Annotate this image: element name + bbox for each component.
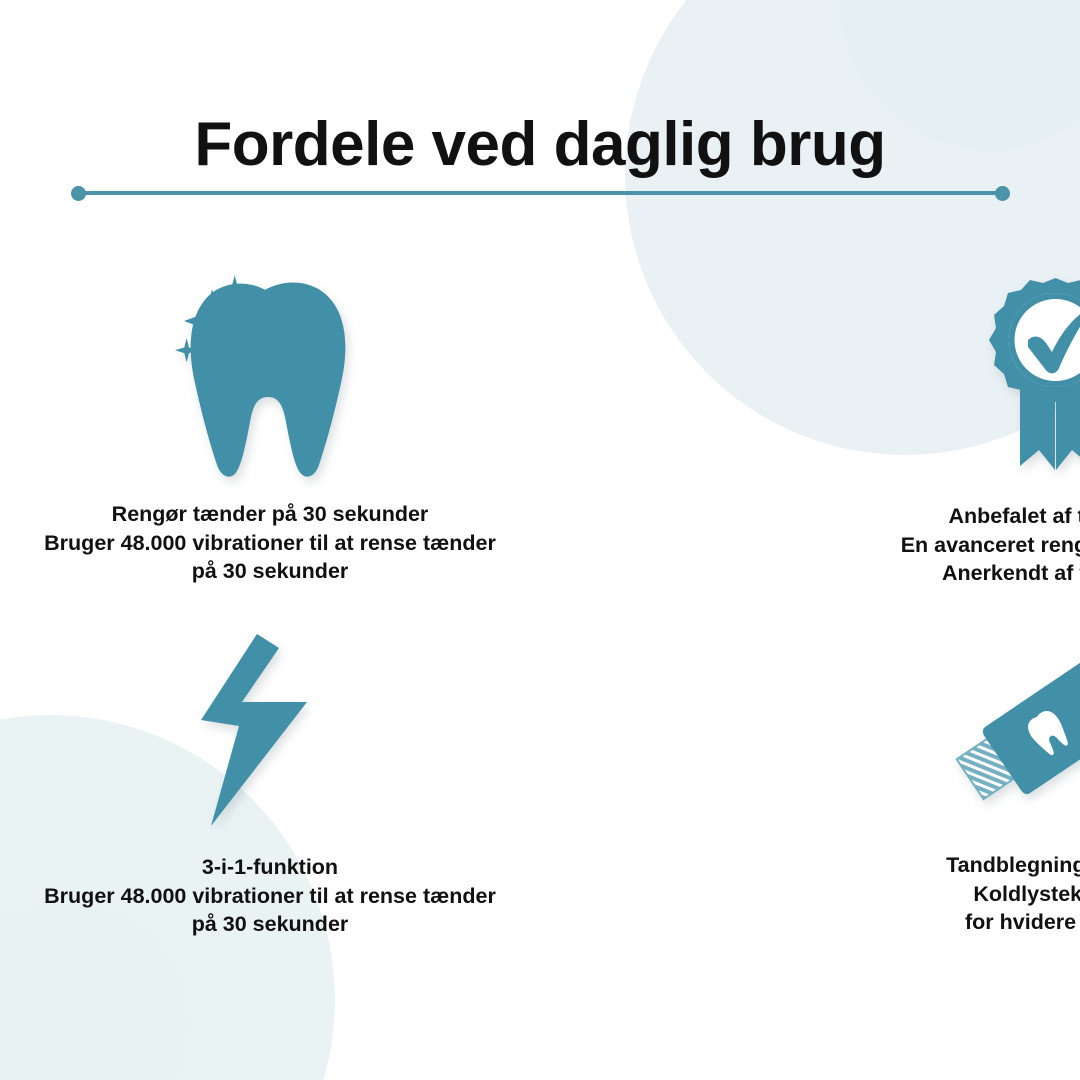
caption-line: for hvidere tænder	[946, 908, 1080, 937]
benefit-caption-bolt: 3-i-1-funktion Bruger 48.000 vibrationer…	[44, 853, 496, 939]
lightning-bolt-icon	[195, 615, 315, 845]
caption-line: Tandblegningstilstand	[946, 851, 1080, 880]
caption-line: Anerkendt af tandlæger.	[901, 559, 1080, 588]
caption-line: 3-i-1-funktion	[44, 853, 496, 882]
caption-line: Bruger 48.000 vibrationer til at rense t…	[44, 882, 496, 911]
benefit-caption-toothpaste: Tandblegningstilstand Koldlysteknologi f…	[946, 851, 1080, 937]
poster-header: Fordele ved daglig brug	[0, 112, 1080, 177]
page-title: Fordele ved daglig brug	[0, 112, 1080, 177]
caption-line: på 30 sekunder	[44, 557, 496, 586]
benefit-item-badge: Anbefalet af tandlæger En avanceret reng…	[540, 250, 1080, 595]
benefit-caption-tooth: Rengør tænder på 30 sekunder Bruger 48.0…	[44, 500, 496, 586]
toothpaste-tube-icon	[948, 613, 1080, 843]
caption-line: Rengør tænder på 30 sekunder	[44, 500, 496, 529]
infographic-poster: Fordele ved daglig brug Rengør tænder på…	[0, 0, 1080, 1080]
caption-line: Bruger 48.000 vibrationer til at rense t…	[44, 529, 496, 558]
caption-line: på 30 sekunder	[44, 910, 496, 939]
award-badge-check-icon	[973, 262, 1080, 492]
benefit-caption-badge: Anbefalet af tandlæger En avanceret reng…	[901, 502, 1080, 588]
benefit-item-tooth: Rengør tænder på 30 sekunder Bruger 48.0…	[0, 250, 540, 595]
caption-line: Anbefalet af tandlæger	[901, 502, 1080, 531]
benefits-grid: Rengør tænder på 30 sekunder Bruger 48.0…	[0, 250, 1080, 940]
caption-line: Koldlysteknologi	[946, 880, 1080, 909]
benefit-item-toothpaste: Tandblegningstilstand Koldlysteknologi f…	[540, 595, 1080, 940]
title-underline-rule	[78, 191, 1003, 195]
caption-line: En avanceret rengøringsmetode	[901, 531, 1080, 560]
sparkling-tooth-icon	[165, 262, 355, 492]
benefit-item-bolt: 3-i-1-funktion Bruger 48.000 vibrationer…	[0, 595, 540, 940]
